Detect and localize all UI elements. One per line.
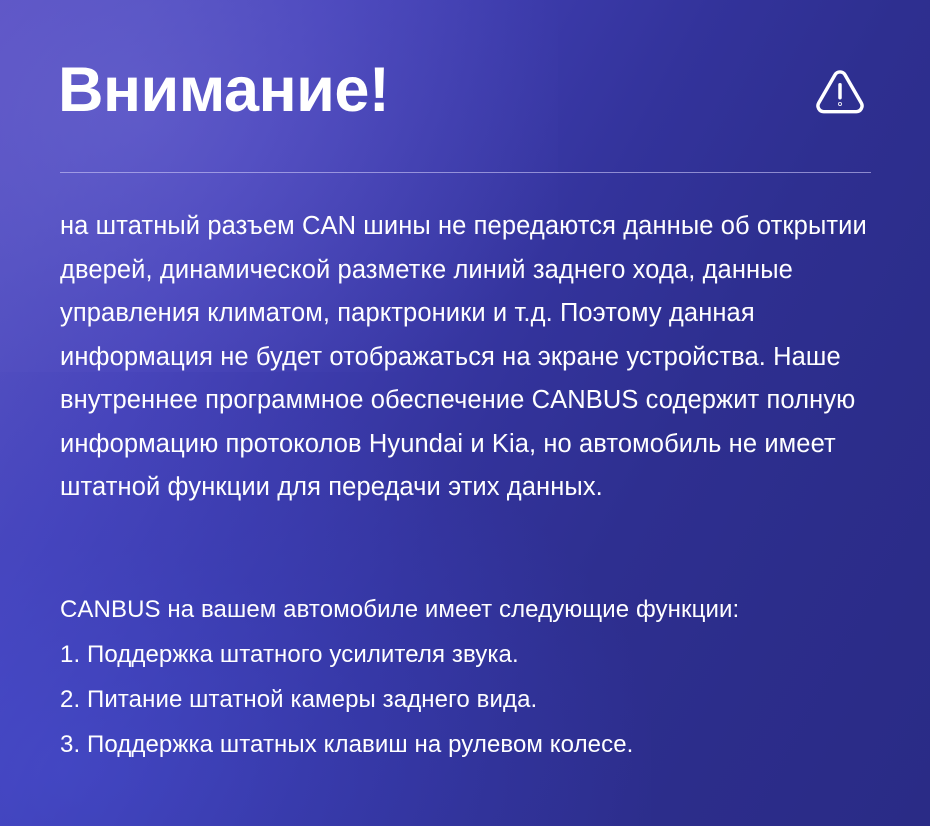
page-title: Внимание! [58,59,389,122]
list-item: 1. Поддержка штатного усилителя звука. [60,632,890,677]
header-divider [60,172,871,173]
warning-banner: Внимание! на штатный разъем CAN шины не … [0,0,930,826]
banner-content: Внимание! на штатный разъем CAN шины не … [0,0,930,826]
features-section: CANBUS на вашем автомобиле имеет следующ… [60,588,890,767]
list-item: 3. Поддержка штатных клавиш на рулевом к… [60,722,890,767]
features-lead-text: CANBUS на вашем автомобиле имеет следующ… [60,588,890,632]
banner-header: Внимание! [0,0,930,172]
list-item: 2. Питание штатной камеры заднего вида. [60,677,890,722]
notice-paragraph: на штатный разъем CAN шины не передаются… [60,205,880,510]
features-list: 1. Поддержка штатного усилителя звука. 2… [60,632,890,767]
warning-triangle-icon [814,65,866,117]
